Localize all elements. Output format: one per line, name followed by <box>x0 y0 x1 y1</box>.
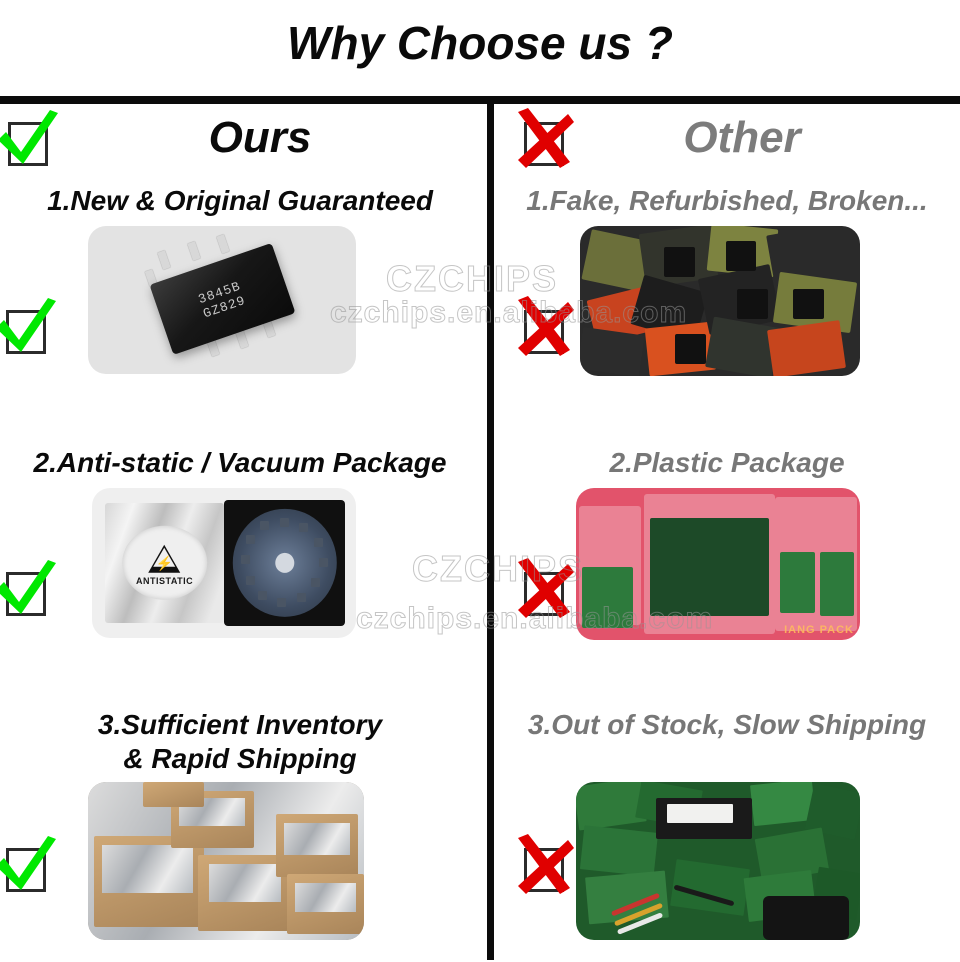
cross-mark-icon <box>512 834 574 896</box>
page-title: Why Choose us ? <box>0 14 960 72</box>
antistatic-label: ANTISTATIC <box>122 575 208 585</box>
pack-watermark-text: IANG PACK <box>784 624 854 636</box>
column-heading-label: Other <box>494 108 960 168</box>
check-mark-icon <box>0 558 56 620</box>
header-divider-horizontal <box>0 96 960 104</box>
row-label: 2.Plastic Package <box>494 440 960 480</box>
column-ours: Ours 1.New & Original Guaranteed <box>0 104 480 960</box>
cross-mark-icon <box>512 558 574 620</box>
component-reel <box>224 500 345 626</box>
column-header-ours: Ours <box>0 104 480 178</box>
photo-new-original-ic-chip: 3845B GZ829 <box>88 226 356 374</box>
row-label: 2.Anti-static / Vacuum Package <box>0 440 480 480</box>
antistatic-bag: ⚡ ANTISTATIC <box>105 503 224 623</box>
row-other-3: 3.Out of Stock, Slow Shipping <box>494 702 960 962</box>
column-heading-label: Ours <box>0 108 480 168</box>
row-label: 3.Out of Stock, Slow Shipping <box>494 702 960 742</box>
column-divider-vertical <box>487 102 494 960</box>
title-bar: Why Choose us ? <box>0 0 960 96</box>
photo-antistatic-vacuum-package: ⚡ ANTISTATIC <box>92 488 356 638</box>
infographic-root: Why Choose us ? Ours 1.New & Original Gu… <box>0 0 960 960</box>
row-ours-1: 1.New & Original Guaranteed 3845B GZ829 <box>0 178 480 440</box>
column-other: Other 1.Fake, Refurbished, Broken... <box>494 104 960 960</box>
photo-scrap-pcb-pile <box>576 782 860 940</box>
row-ours-2: 2.Anti-static / Vacuum Package ⚡ ANTISTA… <box>0 440 480 702</box>
row-other-2: 2.Plastic Package IANG PACK <box>494 440 960 702</box>
check-mark-icon <box>0 296 56 358</box>
photo-plastic-bag-package: IANG PACK <box>576 488 860 640</box>
row-label: 3.Sufficient Inventory & Rapid Shipping <box>0 702 480 776</box>
check-mark-icon <box>0 834 56 896</box>
row-label: 1.New & Original Guaranteed <box>0 178 480 218</box>
column-header-other: Other <box>494 104 960 178</box>
row-ours-3: 3.Sufficient Inventory & Rapid Shipping <box>0 702 480 962</box>
photo-stocked-shipping-boxes <box>88 782 364 940</box>
row-other-1: 1.Fake, Refurbished, Broken... <box>494 178 960 440</box>
cross-mark-icon <box>512 296 574 358</box>
photo-fake-broken-chips-pile <box>580 226 860 376</box>
row-label: 1.Fake, Refurbished, Broken... <box>494 178 960 218</box>
black-module <box>656 798 753 839</box>
